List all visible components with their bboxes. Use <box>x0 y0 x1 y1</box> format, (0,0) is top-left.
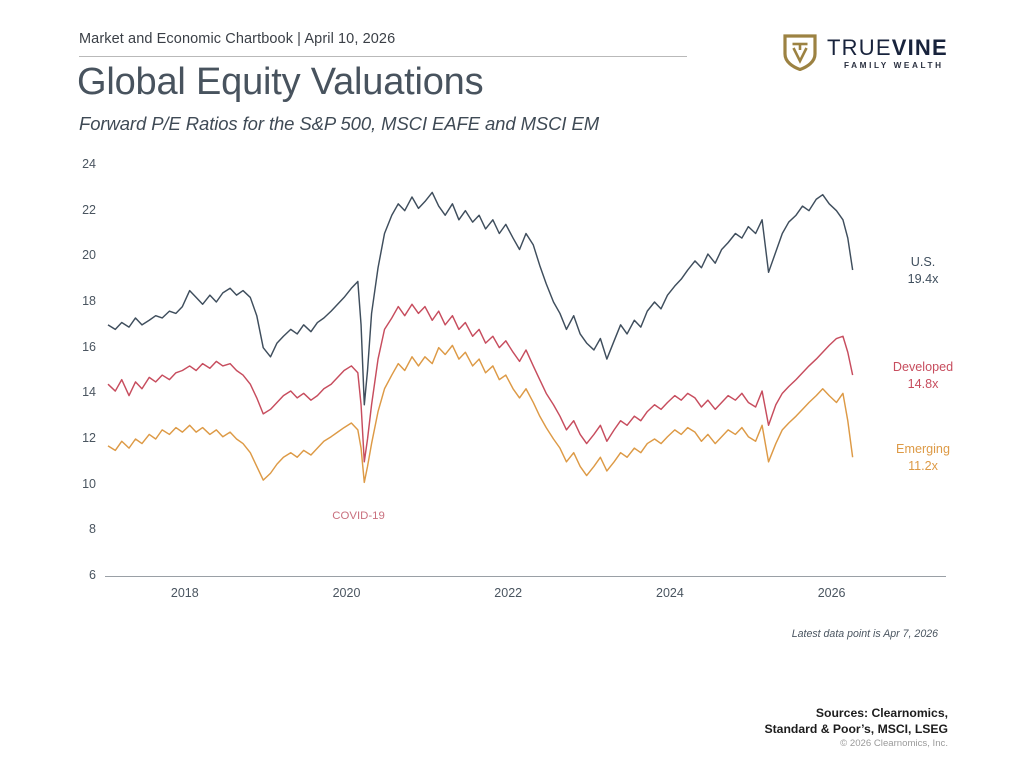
sources-note: Sources: Clearnomics, Standard & Poor’s,… <box>764 705 948 738</box>
y-axis-tick-22: 22 <box>62 203 96 217</box>
chart-plot-area <box>0 0 1024 768</box>
series-label-name: U.S. <box>880 254 966 271</box>
forward-pe-line-chart: 681012141618202224 20182020202220242026 … <box>0 0 1024 768</box>
x-axis-tick-2022: 2022 <box>478 586 538 600</box>
latest-data-note: Latest data point is Apr 7, 2026 <box>792 628 938 640</box>
sources-line-1: Sources: Clearnomics, <box>764 705 948 721</box>
series-end-label-u-s: U.S.19.4x <box>880 254 966 287</box>
x-axis-tick-2026: 2026 <box>802 586 862 600</box>
series-label-name: Emerging <box>880 441 966 458</box>
y-axis-tick-18: 18 <box>62 294 96 308</box>
y-axis-tick-8: 8 <box>62 522 96 536</box>
y-axis-tick-24: 24 <box>62 157 96 171</box>
series-label-value: 11.2x <box>880 458 966 475</box>
y-axis-tick-16: 16 <box>62 340 96 354</box>
slide: Market and Economic Chartbook | April 10… <box>0 0 1024 768</box>
sources-line-2: Standard & Poor’s, MSCI, LSEG <box>764 721 948 737</box>
x-axis-tick-2024: 2024 <box>640 586 700 600</box>
series-label-value: 19.4x <box>880 271 966 288</box>
x-axis-tick-2020: 2020 <box>317 586 377 600</box>
y-axis-tick-12: 12 <box>62 431 96 445</box>
y-axis-tick-14: 14 <box>62 385 96 399</box>
x-axis-tick-2018: 2018 <box>155 586 215 600</box>
y-axis-tick-20: 20 <box>62 248 96 262</box>
y-axis-tick-10: 10 <box>62 477 96 491</box>
series-label-value: 14.8x <box>880 376 966 393</box>
series-label-name: Developed <box>880 359 966 376</box>
series-end-label-developed: Developed14.8x <box>880 359 966 392</box>
y-axis-tick-6: 6 <box>62 568 96 582</box>
series-line-developed <box>108 304 853 462</box>
series-line-emerging <box>108 345 853 482</box>
copyright-note: © 2026 Clearnomics, Inc. <box>840 738 948 749</box>
series-end-label-emerging: Emerging11.2x <box>880 441 966 474</box>
series-line-u-s <box>108 192 853 404</box>
annotation-covid-19: COVID-19 <box>332 510 385 522</box>
x-axis-line <box>105 576 946 577</box>
